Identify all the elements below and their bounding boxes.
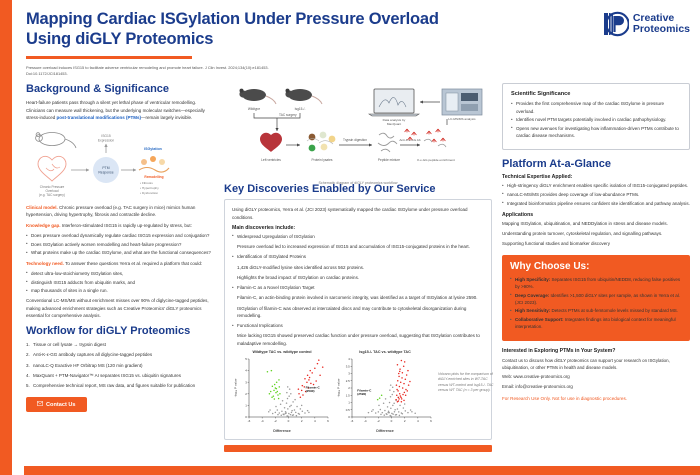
svg-text:-6: -6 <box>248 419 251 423</box>
list-item: Identification of ISGylated Proteins <box>232 253 484 260</box>
list-item: detect ultra-low-stoichiometry ISGylatio… <box>26 270 214 277</box>
poster-header: Mapping Cardiac ISGylation Under Pressur… <box>26 9 690 76</box>
scientific-significance-box: Scientific Significance Provides the fir… <box>502 83 690 150</box>
application-3: Supporting functional studies and biomar… <box>502 240 690 247</box>
discoveries-list: Widespread Upregulation of ISGylation <box>232 233 484 240</box>
volcano-1-title: Wildtype TAC vs. wildtype control <box>232 350 332 354</box>
svg-text:-log₁₀ P value: -log₁₀ P value <box>234 378 238 397</box>
accent-side-bar <box>0 0 12 475</box>
svg-text:0: 0 <box>391 419 393 423</box>
svg-text:-log₁₀ P value: -log₁₀ P value <box>337 378 341 397</box>
volcano-2-title: Isg15-/- TAC vs. wildtype TAC <box>335 350 435 354</box>
knockout-label: Isg15-/- <box>295 107 306 111</box>
discoveries-list: Filamin-C as a Novel ISGylation Target <box>232 284 484 291</box>
list-item: distinguish ISG15 adducts from ubiquitin… <box>26 279 214 286</box>
background-closing: Conventional LC-MS/MS without enrichment… <box>26 297 214 319</box>
knowledge-gap-paragraph: Knowledge gap. Interferon-stimulated ISG… <box>26 222 214 229</box>
list-item: High-stringency diGLY enrichment enables… <box>502 182 690 189</box>
svg-text:-2: -2 <box>377 419 380 423</box>
svg-text:Expression: Expression <box>98 139 114 143</box>
ptm-link[interactable]: post-translational modifications (PTMs) <box>57 115 142 120</box>
workflow-steps-list: Tissue or cell lysate → trypsin digest A… <box>26 341 214 389</box>
svg-text:2: 2 <box>404 419 406 423</box>
volcano-2-xlabel: Difference <box>335 429 435 433</box>
lcms-label: LC-MS/MS analysis <box>448 117 476 121</box>
list-item: Integrated bioinformatics pipeline ensur… <box>502 200 690 207</box>
svg-text:ISG15: ISG15 <box>101 134 111 138</box>
svg-text:1.5: 1.5 <box>346 393 350 397</box>
technology-need-list: detect ultra-low-stoichiometry ISGylatio… <box>26 270 214 295</box>
application-2: Understanding protein turnover, cytoskel… <box>502 230 690 237</box>
peptide-mixture-label: Peptide mixture <box>378 158 400 162</box>
list-item: map thousands of sites in a single run. <box>26 287 214 294</box>
protein-lysate-glyph <box>307 132 335 152</box>
digly-workflow-figure: Wildtype Isg15-/- TAC surgery <box>224 83 492 179</box>
data-analysis-laptop-glyph <box>369 89 419 116</box>
svg-text:Response: Response <box>98 171 113 175</box>
svg-text:4: 4 <box>348 357 350 361</box>
list-item: High Sensitivity: Detects PTMs at sub-fe… <box>510 307 682 314</box>
peptide-mixture-glyph <box>378 134 397 153</box>
applications-heading: Applications <box>502 212 690 218</box>
cp-monogram-icon <box>603 11 629 37</box>
discoveries-heading: Main discoveries include: <box>232 225 484 231</box>
list-item: Widespread Upregulation of ISGylation <box>232 233 484 240</box>
svg-text:-6: -6 <box>351 419 354 423</box>
volcano-plot-wt-tac-vs-control: Wildtype TAC vs. wildtype control -6-4-2… <box>232 350 332 434</box>
technical-expertise-list: High-stringency diGLY enrichment enables… <box>502 182 690 207</box>
title-underline <box>26 56 192 58</box>
svg-text:2.5: 2.5 <box>346 379 350 383</box>
volcano-1-canvas: -6-4-20246012345-log₁₀ P valueFilamin-C(… <box>232 355 332 429</box>
svg-text:4: 4 <box>417 419 419 423</box>
list-item: Opens new avenues for investigating how … <box>511 125 681 139</box>
svg-text:2: 2 <box>301 419 303 423</box>
section-background-title: Background & Significance <box>26 83 214 95</box>
svg-text:4: 4 <box>314 419 316 423</box>
workflow-figure-caption: Schematic diagram of diGLY proteomics wo… <box>224 181 492 185</box>
poster-columns: Background & Significance Heart-failure … <box>26 83 690 475</box>
svg-text:(2590): (2590) <box>306 389 315 393</box>
list-item: Does ISGylation actively worsen remodell… <box>26 241 214 248</box>
list-item: nanoLC-Q Exactive HF Orbitrap MS (120 mi… <box>26 362 214 369</box>
heart-glyph <box>38 157 66 182</box>
knockout-mouse-glyph <box>285 89 322 104</box>
list-item: Deep Coverage: Identifies >1,500 diGLY s… <box>510 292 682 306</box>
discovery-3-detail2: ISGylation of filamin-C was observed at … <box>232 305 484 320</box>
left-ventricle-label: Left ventricles <box>261 158 281 162</box>
svg-text:3.5: 3.5 <box>346 364 350 368</box>
wildtype-label: Wildtype <box>248 107 260 111</box>
discoveries-intro: Using diGLY proteomics, Yerra et al. (JC… <box>232 206 484 221</box>
discovery-1-detail: Pressure overload led to increased expre… <box>232 243 484 250</box>
volcano-plots-note: Volcano plots for the comparison of diGL… <box>438 350 494 394</box>
why-choose-us-box: Why Choose Us: High Specificity: Separat… <box>502 255 690 341</box>
why-item-4-lead: Collaborative Support: <box>515 317 564 322</box>
key-discoveries-card: Using diGLY proteomics, Yerra et al. (JC… <box>224 199 492 440</box>
knowledge-gap-text: Interferon-stimulated ISG15 is rapidly u… <box>61 223 192 228</box>
discoveries-list: Functional Implications <box>232 322 484 329</box>
contact-block: Interested in Exploring PTMs in Your Sys… <box>502 348 690 401</box>
wildtype-mouse-glyph <box>239 89 276 104</box>
mouse-glyph <box>36 133 76 149</box>
brand-logo: Creative Proteomics <box>603 9 690 37</box>
svg-text:Remodelling: Remodelling <box>144 175 163 179</box>
svg-text:2: 2 <box>348 386 350 390</box>
list-item: Filamin-C as a Novel ISGylation Target <box>232 284 484 291</box>
svg-text:3: 3 <box>348 372 350 376</box>
list-item: Identifies novel PTM targets potentially… <box>511 116 681 123</box>
list-item: MaxQuant + PTM-Navigator™ AI separates I… <box>26 372 214 379</box>
middle-accent-bar <box>224 445 492 452</box>
title-block: Mapping Cardiac ISGylation Under Pressur… <box>26 9 486 76</box>
svg-text:2: 2 <box>245 392 247 396</box>
svg-text:1: 1 <box>348 401 350 405</box>
svg-text:0: 0 <box>288 419 290 423</box>
technology-need-text: To answer these questions Yerra et al. r… <box>64 261 202 266</box>
why-item-1-lead: High Specificity: <box>515 277 550 282</box>
protein-lysate-label: Protein lysates <box>312 158 333 162</box>
anti-kgg-antibody-label: Anti-K-ε-GG Ab <box>399 138 420 142</box>
list-item: Anti-K-ε-GG antibody captures all diglyc… <box>26 351 214 358</box>
list-item: High Specificity: Separates ISG15 from u… <box>510 276 682 290</box>
page-title: Mapping Cardiac ISGylation Under Pressur… <box>26 9 486 49</box>
list-item: Provides the first comprehensive map of … <box>511 100 681 114</box>
left-ventricle-glyph <box>260 133 282 152</box>
discovery-2-detail: 1,426 diGLY-modified lysine sites identi… <box>232 264 484 271</box>
svg-text:5: 5 <box>245 357 247 361</box>
volcano-plots-row: Wildtype TAC vs. wildtype control -6-4-2… <box>232 350 484 434</box>
volcano-2-canvas: -6-4-2024600.511.522.533.54-log₁₀ P valu… <box>335 355 435 429</box>
svg-text:MaxQuant: MaxQuant <box>387 122 401 126</box>
tac-surgery-label: TAC surgery <box>279 113 297 117</box>
svg-text:(e.g. TAC surgery): (e.g. TAC surgery) <box>39 193 65 197</box>
scientific-significance-title: Scientific Significance <box>511 91 681 97</box>
column-right: Scientific Significance Provides the fir… <box>502 83 690 475</box>
brand-name-line2: Proteomics <box>633 24 690 35</box>
list-item: Tissue or cell lysate → trypsin digest <box>26 341 214 348</box>
svg-text:-2: -2 <box>274 419 277 423</box>
contact-us-button[interactable]: Contact Us <box>26 397 87 412</box>
knowledge-gap-label: Knowledge gap. <box>26 223 61 228</box>
svg-text:6: 6 <box>327 419 329 423</box>
contact-web[interactable]: Web: www.creative-proteomics.org <box>502 373 690 380</box>
svg-text:• Dysfunction: • Dysfunction <box>140 191 158 195</box>
application-1: Mapping ISGylation, ubiquitination, and … <box>502 220 690 227</box>
poster-canvas: Mapping Cardiac ISGylation Under Pressur… <box>0 0 700 475</box>
svg-text:-4: -4 <box>261 419 264 423</box>
discovery-3-detail: Filamin-C, an actin-binding protein invo… <box>232 294 484 301</box>
svg-text:• Hypertrophy: • Hypertrophy <box>140 186 159 190</box>
section-platform-title: Platform At-a-Glance <box>502 158 690 170</box>
list-item: Does pressure overload dynamically regul… <box>26 232 214 239</box>
contact-us-label: Contact Us <box>46 402 76 408</box>
svg-text:PTM: PTM <box>102 166 109 170</box>
trypsin-digestion-label: Trypsin digestion <box>343 138 367 142</box>
svg-text:4: 4 <box>245 369 247 373</box>
why-choose-us-list: High Specificity: Separates ISG15 from u… <box>510 276 682 331</box>
contact-text: Contact us to discuss how diGLY proteomi… <box>502 357 690 371</box>
list-item: Collaborative Support: Integrates findin… <box>510 316 682 330</box>
technology-need-paragraph: Technology need. To answer these questio… <box>26 260 214 267</box>
isgylation-pathway-diagram: Chronic Pressure Overload (e.g. TAC surg… <box>26 126 214 198</box>
poster-page: Mapping Cardiac ISGylation Under Pressur… <box>12 0 700 475</box>
brand-name: Creative Proteomics <box>633 13 690 35</box>
section-workflow-title: Workflow for diGLY Proteomics <box>26 325 214 337</box>
scientific-significance-list: Provides the first comprehensive map of … <box>511 100 681 139</box>
clinical-model-label: Clinical model. <box>26 205 58 210</box>
protein-cluster-glyph <box>139 156 169 172</box>
why-item-3-text: Detects PTMs at sub-femtomole levels mis… <box>550 308 678 313</box>
technology-need-label: Technology need. <box>26 261 64 266</box>
list-item: What proteins make up the cardiac ISGylo… <box>26 249 214 256</box>
technical-expertise-heading: Technical Expertise Applied: <box>502 174 690 180</box>
why-item-2-lead: Deep Coverage: <box>515 293 549 298</box>
svg-text:ISGylation: ISGylation <box>144 147 162 151</box>
background-intro-part2: —remain largely invisible. <box>141 115 192 120</box>
citation-line-2: Doi:10.1172/JCI181453. <box>26 71 356 77</box>
list-item: Functional Implications <box>232 322 484 329</box>
discoveries-list: Identification of ISGylated Proteins <box>232 253 484 260</box>
envelope-icon <box>37 401 43 408</box>
contact-email[interactable]: Email: info@creative-proteomics.org <box>502 383 690 390</box>
clinical-model-paragraph: Clinical model. Chronic pressure overloa… <box>26 204 214 219</box>
svg-text:-4: -4 <box>364 419 367 423</box>
contact-heading: Interested in Exploring PTMs in Your Sys… <box>502 348 690 354</box>
mass-spectrometer-glyph <box>442 89 482 115</box>
discovery-4-detail: Mice lacking ISG15 showed preserved card… <box>232 332 484 347</box>
why-choose-us-title: Why Choose Us: <box>510 261 682 272</box>
svg-text:• Fibrosis: • Fibrosis <box>140 181 153 185</box>
volcano-plot-ko-tac-vs-wt-tac: Isg15-/- TAC vs. wildtype TAC -6-4-20246… <box>335 350 435 434</box>
research-use-disclaimer: For Research Use Only. Not for use in di… <box>502 396 690 401</box>
kgg-enrichment-label: K-ε-GG peptide enrichment <box>417 158 455 162</box>
footer-accent-bar <box>24 466 700 475</box>
column-left: Background & Significance Heart-failure … <box>26 83 214 475</box>
list-item: Comprehensive technical report, MS raw d… <box>26 382 214 389</box>
volcano-1-xlabel: Difference <box>232 429 332 433</box>
kgg-enrichment-glyph <box>424 129 446 147</box>
svg-text:(2590): (2590) <box>357 392 366 396</box>
svg-text:3: 3 <box>245 380 247 384</box>
svg-text:0.5: 0.5 <box>346 408 350 412</box>
background-intro: Heart-failure patients pass through a si… <box>26 99 214 121</box>
list-item: nanoLC-MS/MS provides deep coverage of l… <box>502 191 690 198</box>
svg-text:6: 6 <box>430 419 432 423</box>
svg-text:1: 1 <box>245 403 247 407</box>
why-item-3-lead: High Sensitivity: <box>515 308 550 313</box>
knowledge-gap-list: Does pressure overload dynamically regul… <box>26 232 214 257</box>
column-middle: Wildtype Isg15-/- TAC surgery <box>224 83 492 475</box>
discovery-2-detail2: Highlights the broad impact of ISGylatio… <box>232 274 484 281</box>
